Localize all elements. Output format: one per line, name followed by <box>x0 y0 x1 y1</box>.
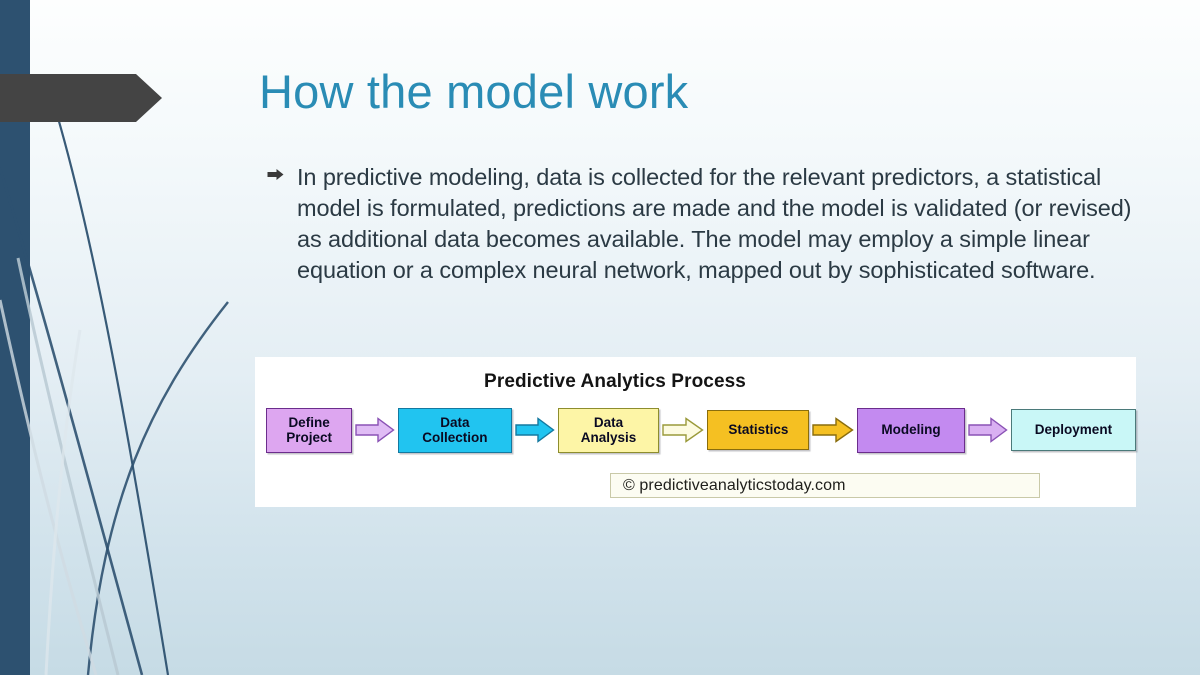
flow-step-label: Deployment <box>1035 422 1112 437</box>
flow-step-data-collection[interactable]: Data Collection <box>398 408 511 453</box>
flow-step-label: Modeling <box>881 422 940 437</box>
flow-step-data-analysis[interactable]: Data Analysis <box>558 408 660 453</box>
bullet-arrow-icon <box>267 162 297 184</box>
flow-step-deployment[interactable]: Deployment <box>1011 409 1136 451</box>
flow-connector-2-icon <box>512 417 558 443</box>
flow-step-label: Statistics <box>728 422 788 437</box>
flow-step-statistics[interactable]: Statistics <box>707 410 809 450</box>
flow-connector-1-icon <box>352 417 398 443</box>
slide-canvas: How the model work In predictive modelin… <box>0 0 1200 675</box>
body-bullet-item: In predictive modeling, data is collecte… <box>267 162 1137 286</box>
flow-connector-3-icon <box>659 417 707 443</box>
flow-step-define-project[interactable]: Define Project <box>266 408 352 453</box>
banner-arrow-shape <box>0 74 162 122</box>
flow-connector-5-icon <box>965 417 1011 443</box>
page-title: How the model work <box>259 66 1079 118</box>
diagram-title: Predictive Analytics Process <box>255 371 975 393</box>
copyright-notice: © predictiveanalyticstoday.com <box>610 473 1040 498</box>
flow-step-label: Data Collection <box>422 415 487 445</box>
copyright-text: © predictiveanalyticstoday.com <box>623 477 846 495</box>
flow-step-modeling[interactable]: Modeling <box>857 408 965 453</box>
flow-step-label: Data Analysis <box>581 415 637 445</box>
flow-step-label: Define Project <box>286 415 332 445</box>
diagram-image-panel: Predictive Analytics Process Define Proj… <box>255 357 1136 507</box>
body-paragraph: In predictive modeling, data is collecte… <box>297 162 1137 286</box>
flow-connector-4-icon <box>809 417 857 443</box>
process-flow-row: Define Project Data Collection Data Anal… <box>266 402 1136 458</box>
